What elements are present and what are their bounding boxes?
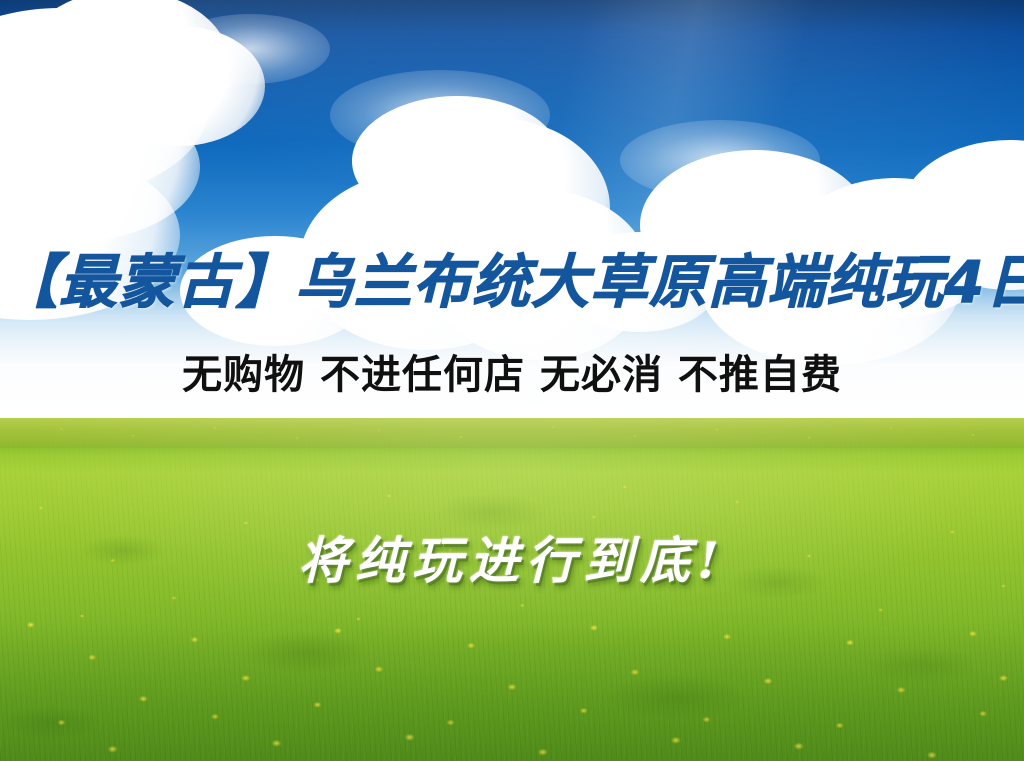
cloud-wisp <box>170 14 330 84</box>
slogan-text: 将纯玩进行到底! <box>0 528 1024 594</box>
cloud-wisp <box>620 120 820 200</box>
subheadline-features: 无购物 不进任何店 无必消 不推自费 <box>0 348 1024 402</box>
travel-promo-banner: 【最蒙古】乌兰布统大草原高端纯玩4日游 无购物 不进任何店 无必消 不推自费 将… <box>0 0 1024 761</box>
cloud-wisp <box>330 70 550 160</box>
headline-title: 【最蒙古】乌兰布统大草原高端纯玩4日游 <box>0 246 1024 318</box>
